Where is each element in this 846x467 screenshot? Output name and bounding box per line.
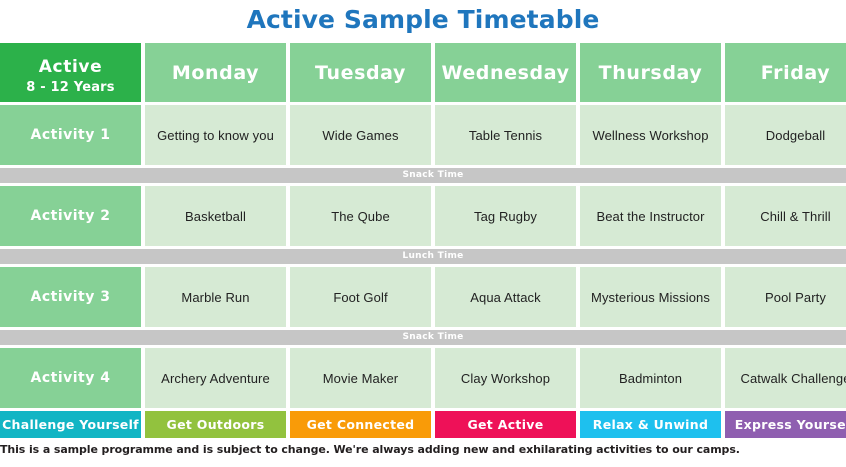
cell-activity-3-friday: Pool Party — [725, 267, 846, 327]
header-day-wednesday: Wednesday — [435, 43, 576, 102]
break-row-snack-1: Snack Time — [0, 168, 846, 183]
row-label-activity-1: Activity 1 — [0, 105, 141, 165]
category-get-active: Get Active — [435, 411, 576, 438]
timetable-page: Active Sample Timetable Active 8 - 12 Ye… — [0, 0, 846, 467]
cell-activity-1-friday: Dodgeball — [725, 105, 846, 165]
break-row-lunch: Lunch Time — [0, 249, 846, 264]
cell-activity-3-tuesday: Foot Golf — [290, 267, 431, 327]
disclaimer-text: This is a sample programme and is subjec… — [0, 443, 846, 456]
break-label-snack-time: Snack Time — [0, 168, 846, 183]
table-row: Activity 1 Getting to know you Wide Game… — [0, 105, 846, 165]
cell-activity-2-friday: Chill & Thrill — [725, 186, 846, 246]
cell-activity-4-friday: Catwalk Challenge — [725, 348, 846, 408]
cell-activity-1-thursday: Wellness Workshop — [580, 105, 721, 165]
header-day-friday: Friday — [725, 43, 846, 102]
cell-activity-1-tuesday: Wide Games — [290, 105, 431, 165]
cell-activity-1-wednesday: Table Tennis — [435, 105, 576, 165]
header-day-monday: Monday — [145, 43, 286, 102]
category-row: Challenge Yourself Get Outdoors Get Conn… — [0, 411, 846, 438]
break-row-snack-2: Snack Time — [0, 330, 846, 345]
table-row: Activity 4 Archery Adventure Movie Maker… — [0, 348, 846, 408]
header-corner-cell: Active 8 - 12 Years — [0, 43, 141, 102]
cell-activity-3-monday: Marble Run — [145, 267, 286, 327]
cell-activity-2-thursday: Beat the Instructor — [580, 186, 721, 246]
header-day-thursday: Thursday — [580, 43, 721, 102]
break-label-snack-time-2: Snack Time — [0, 330, 846, 345]
category-relax-unwind: Relax & Unwind — [580, 411, 721, 438]
timetable-grid: Active 8 - 12 Years Monday Tuesday Wedne… — [0, 40, 846, 441]
break-label-lunch-time: Lunch Time — [0, 249, 846, 264]
cell-activity-3-wednesday: Aqua Attack — [435, 267, 576, 327]
cell-activity-4-monday: Archery Adventure — [145, 348, 286, 408]
cell-activity-2-tuesday: The Qube — [290, 186, 431, 246]
category-get-outdoors: Get Outdoors — [145, 411, 286, 438]
category-get-connected: Get Connected — [290, 411, 431, 438]
table-row: Activity 3 Marble Run Foot Golf Aqua Att… — [0, 267, 846, 327]
cell-activity-1-monday: Getting to know you — [145, 105, 286, 165]
table-row: Activity 2 Basketball The Qube Tag Rugby… — [0, 186, 846, 246]
cell-activity-4-thursday: Badminton — [580, 348, 721, 408]
timetable-body: Active 8 - 12 Years Monday Tuesday Wedne… — [0, 43, 846, 438]
row-label-activity-4: Activity 4 — [0, 348, 141, 408]
cell-activity-4-tuesday: Movie Maker — [290, 348, 431, 408]
corner-title: Active — [0, 51, 141, 77]
header-row: Active 8 - 12 Years Monday Tuesday Wedne… — [0, 43, 846, 102]
cell-activity-4-wednesday: Clay Workshop — [435, 348, 576, 408]
cell-activity-2-monday: Basketball — [145, 186, 286, 246]
category-express-yourself: Express Yourself — [725, 411, 846, 438]
cell-activity-2-wednesday: Tag Rugby — [435, 186, 576, 246]
corner-age-range: 8 - 12 Years — [0, 77, 141, 95]
page-title: Active Sample Timetable — [0, 0, 846, 40]
row-label-activity-3: Activity 3 — [0, 267, 141, 327]
header-day-tuesday: Tuesday — [290, 43, 431, 102]
category-challenge-yourself: Challenge Yourself — [0, 411, 141, 438]
row-label-activity-2: Activity 2 — [0, 186, 141, 246]
cell-activity-3-thursday: Mysterious Missions — [580, 267, 721, 327]
